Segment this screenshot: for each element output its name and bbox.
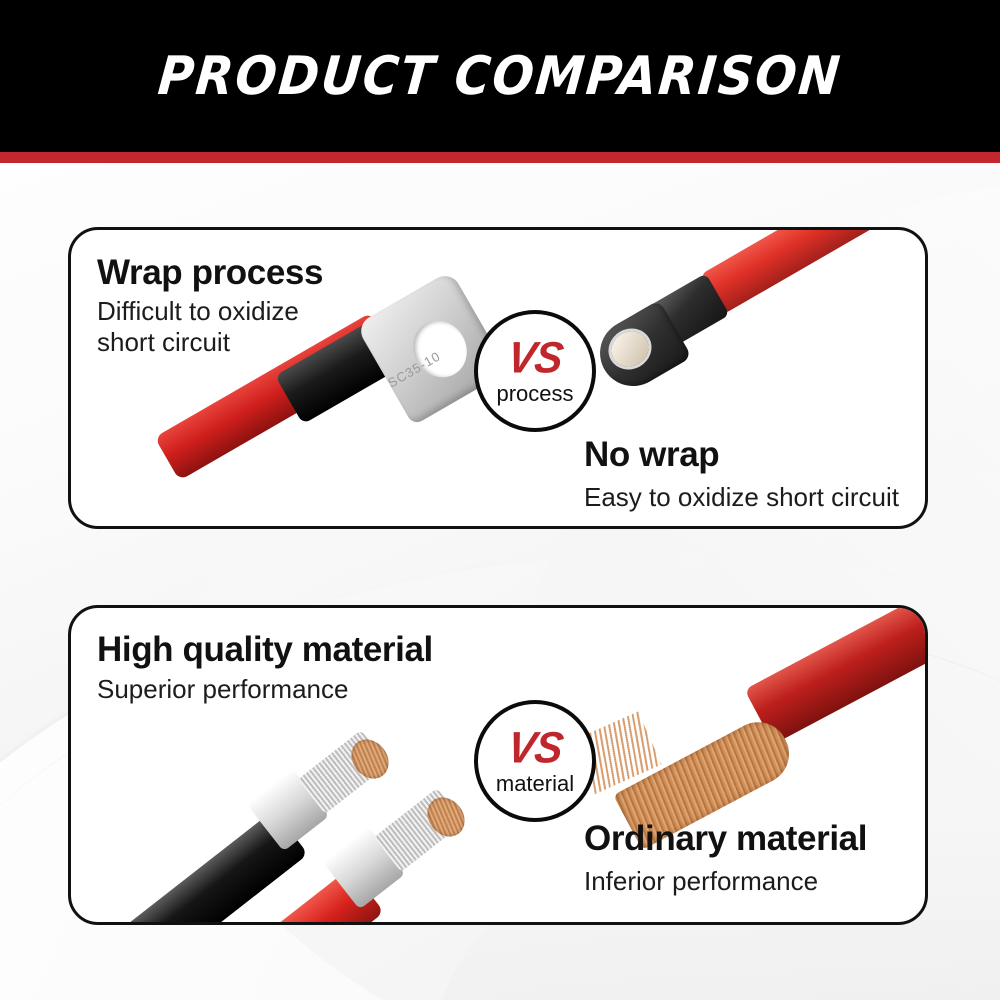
vs-badge-material-label: material xyxy=(496,773,574,795)
bare-copper-red-jacket xyxy=(744,605,928,744)
no-wrap-heading: No wrap xyxy=(584,435,719,474)
page-title: PRODUCT COMPARISON xyxy=(156,46,845,107)
high-quality-material-heading: High quality material xyxy=(97,630,433,669)
wrap-process-heading: Wrap process xyxy=(97,253,323,292)
no-wrap-subtitle-line-1: Easy to oxidize short circuit xyxy=(584,482,899,513)
high-quality-material-subtitle-block: Superior performance xyxy=(97,674,348,705)
header-accent-stripe xyxy=(0,152,1000,163)
vs-badge-process: VS process xyxy=(474,310,596,432)
vs-badge-process-vs-text: VS xyxy=(505,336,565,380)
ordinary-material-subtitle-block: Inferior performance xyxy=(584,866,818,897)
ordinary-material-heading: Ordinary material xyxy=(584,819,867,858)
vs-badge-material: VS material xyxy=(474,700,596,822)
tinned-copper-cables-photo xyxy=(131,676,511,925)
vs-badge-process-label: process xyxy=(496,383,573,405)
ordinary-material-subtitle: Inferior performance xyxy=(584,866,818,897)
bare-copper-cable-photo xyxy=(571,605,928,840)
no-wrap-subtitle-block: Easy to oxidize short circuit xyxy=(584,482,899,513)
header-banner: PRODUCT COMPARISON xyxy=(0,0,1000,152)
wrap-process-subtitle-block: Difficult to oxidize short circuit xyxy=(97,296,299,357)
wrap-process-subtitle-line-2: short circuit xyxy=(97,327,299,358)
vs-badge-material-vs-text: VS xyxy=(505,726,565,770)
no-wrap-heading-block: No wrap xyxy=(584,435,719,474)
nowrap-red-cable xyxy=(700,227,929,315)
high-quality-material-heading-block: High quality material xyxy=(97,630,433,669)
bare-crimped-lug-photo xyxy=(583,227,928,420)
wrap-process-heading-block: Wrap process xyxy=(97,253,323,292)
high-quality-material-subtitle: Superior performance xyxy=(97,674,348,705)
ordinary-material-heading-block: Ordinary material xyxy=(584,819,867,858)
wrap-process-subtitle-line-1: Difficult to oxidize xyxy=(97,296,299,327)
